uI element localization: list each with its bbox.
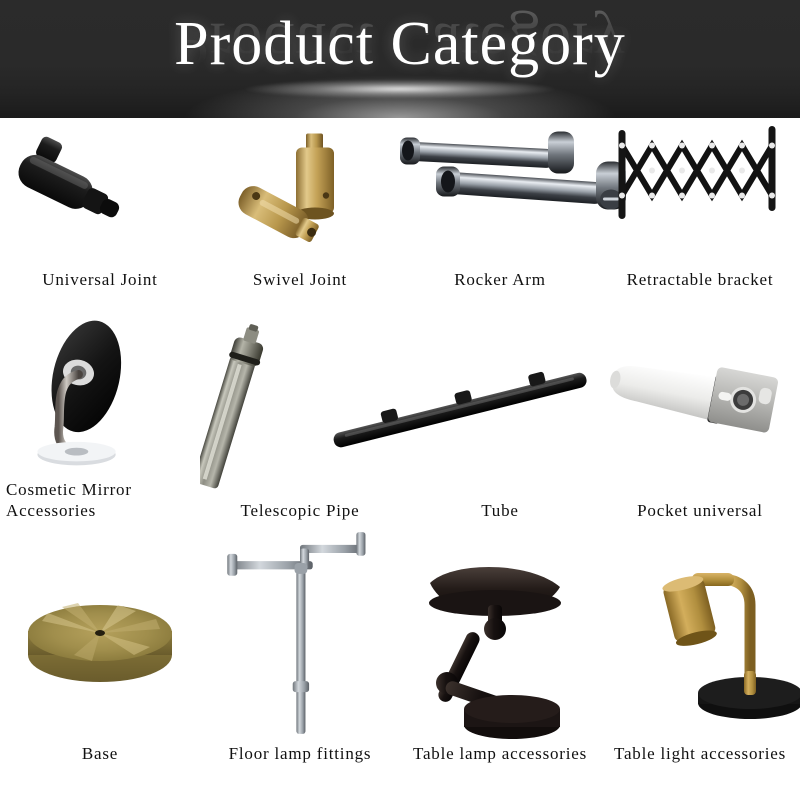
product-label-line-1: Cosmetic Mirror — [6, 480, 132, 499]
product-label: Telescopic Pipe — [200, 500, 400, 543]
product-thumbnail[interactable] — [200, 118, 400, 269]
product-cell-base[interactable]: Base — [0, 543, 200, 798]
product-thumbnail[interactable] — [0, 118, 200, 269]
table-light-accessories-icon — [600, 543, 800, 743]
product-thumbnail[interactable] — [200, 308, 400, 500]
product-cell-rocker-arm[interactable]: Rocker Arm — [400, 118, 600, 308]
product-label: Table light accessories — [600, 743, 800, 798]
telescopic-pipe-icon — [200, 308, 400, 500]
product-row: Base — [0, 543, 800, 798]
product-cell-table-lamp-accessories[interactable]: Table lamp accessories — [400, 543, 600, 798]
product-label: Pocket universal — [600, 500, 800, 543]
product-cell-universal-joint[interactable]: Universal Joint — [0, 118, 200, 308]
product-label: Swivel Joint — [200, 269, 400, 308]
pocket-universal-icon — [600, 308, 800, 500]
floor-lamp-fittings-icon — [200, 543, 400, 743]
product-row: Cosmetic MirrorAccessories — [0, 308, 800, 543]
product-label: Universal Joint — [0, 269, 200, 308]
page-header-banner: Product Category Product Category — [0, 0, 800, 118]
product-thumbnail[interactable] — [0, 308, 200, 479]
product-label-line-2: Accessories — [6, 501, 96, 520]
product-cell-cosmetic-mirror[interactable]: Cosmetic MirrorAccessories — [0, 308, 200, 543]
product-thumbnail[interactable] — [600, 543, 800, 743]
universal-joint-icon — [0, 118, 200, 269]
product-grid: Universal Joint — [0, 118, 800, 800]
product-cell-pocket-universal[interactable]: Pocket universal — [600, 308, 800, 543]
table-lamp-accessories-icon — [400, 543, 600, 743]
product-cell-retractable-bracket[interactable]: Retractable bracket — [600, 118, 800, 308]
product-row: Universal Joint — [0, 118, 800, 308]
product-cell-tube[interactable]: Tube — [400, 308, 600, 543]
product-thumbnail[interactable] — [400, 543, 600, 743]
product-thumbnail[interactable] — [600, 308, 800, 500]
product-thumbnail[interactable] — [200, 543, 400, 743]
product-label: Floor lamp fittings — [200, 743, 400, 798]
product-label: Tube — [400, 500, 600, 543]
cosmetic-mirror-icon — [0, 308, 200, 479]
rocker-arm-icon — [400, 118, 600, 269]
product-cell-table-light-accessories[interactable]: Table light accessories — [600, 543, 800, 798]
product-cell-swivel-joint[interactable]: Swivel Joint — [200, 118, 400, 308]
product-cell-floor-lamp-fittings[interactable]: Floor lamp fittings — [200, 543, 400, 798]
product-thumbnail[interactable] — [600, 118, 800, 269]
product-label: Base — [0, 743, 200, 798]
product-label: Table lamp accessories — [400, 743, 600, 798]
product-thumbnail[interactable] — [400, 118, 600, 269]
product-thumbnail[interactable] — [400, 308, 600, 500]
page-title: Product Category — [0, 6, 800, 82]
retractable-bracket-icon — [600, 118, 800, 269]
product-label: Rocker Arm — [400, 269, 600, 308]
product-label: Retractable bracket — [600, 269, 800, 308]
swivel-joint-icon — [200, 118, 400, 269]
product-category-page: Product Category Product Category — [0, 0, 800, 800]
tube-icon — [400, 308, 600, 500]
product-label: Cosmetic MirrorAccessories — [0, 479, 200, 543]
base-icon — [0, 543, 200, 743]
product-thumbnail[interactable] — [0, 543, 200, 743]
